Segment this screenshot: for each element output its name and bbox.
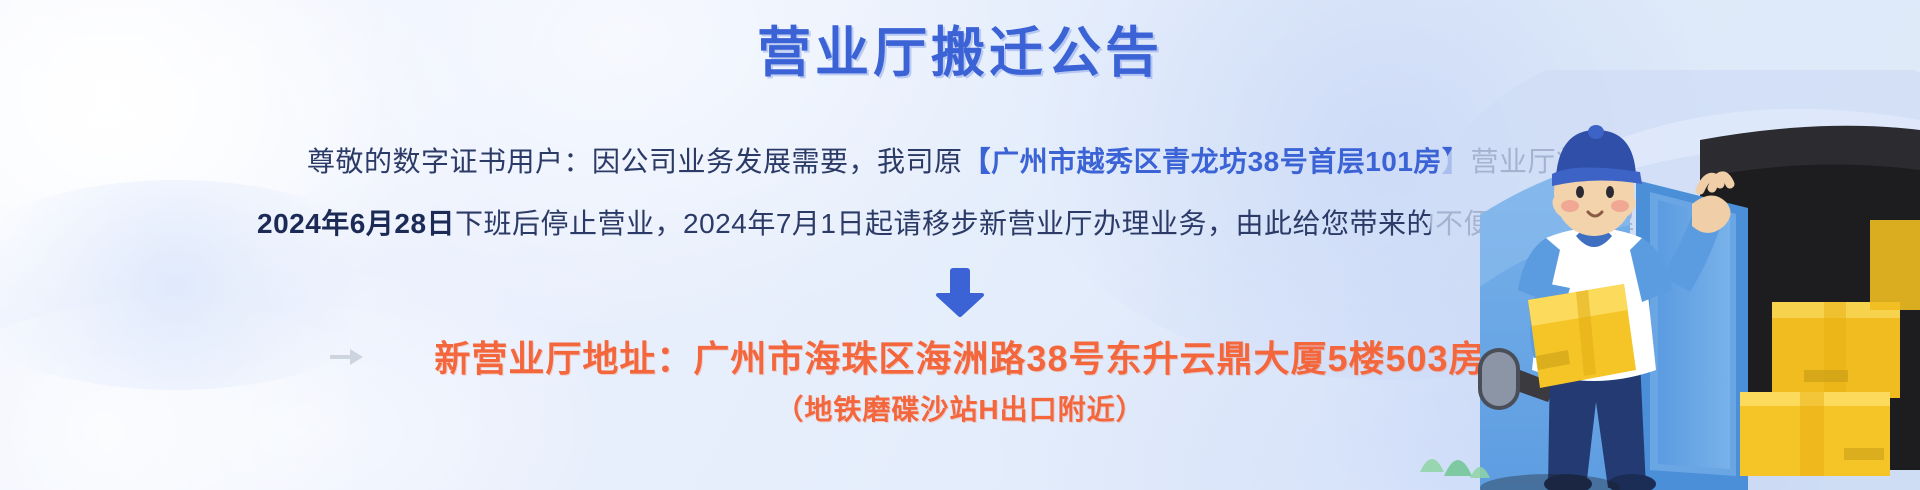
page-title-text: 营业厅搬迁公告 (757, 23, 1163, 83)
grass-decoration (1420, 459, 1490, 478)
page-title: 营业厅搬迁公告 (753, 26, 1167, 80)
notice-line-2: 2024年6月28日下班后停止营业，2024年7月1日起请移步新营业厅办理业务，… (0, 202, 1920, 242)
new-address-subway-note: （地铁磨碟沙站H出口附近） (0, 388, 1920, 428)
page-title-wrapper: 营业厅搬迁公告 (0, 26, 1920, 80)
notice-line-1-pre: 尊敬的数字证书用户：因公司业务发展需要，我司原 (307, 146, 963, 177)
arrow-down-icon (0, 268, 1920, 318)
announcement-banner: 营业厅搬迁公告 尊敬的数字证书用户：因公司业务发展需要，我司原【广州市越秀区青龙… (0, 0, 1920, 490)
notice-line-2-rest: 下班后停止营业，2024年7月1日起请移步新营业厅办理业务，由此给您带来的不便，… (455, 208, 1663, 239)
old-address-highlight: 【广州市越秀区青龙坊38号首层101房】 (963, 146, 1471, 177)
close-date-highlight: 2024年6月28日 (257, 208, 455, 239)
new-address-line: 新营业厅地址：广州市海珠区海洲路38号东升云鼎大厦5楼503房 (0, 330, 1920, 382)
notice-line-1-post: 营业厅将于 (1470, 146, 1613, 177)
notice-line-1: 尊敬的数字证书用户：因公司业务发展需要，我司原【广州市越秀区青龙坊38号首层10… (0, 140, 1920, 180)
